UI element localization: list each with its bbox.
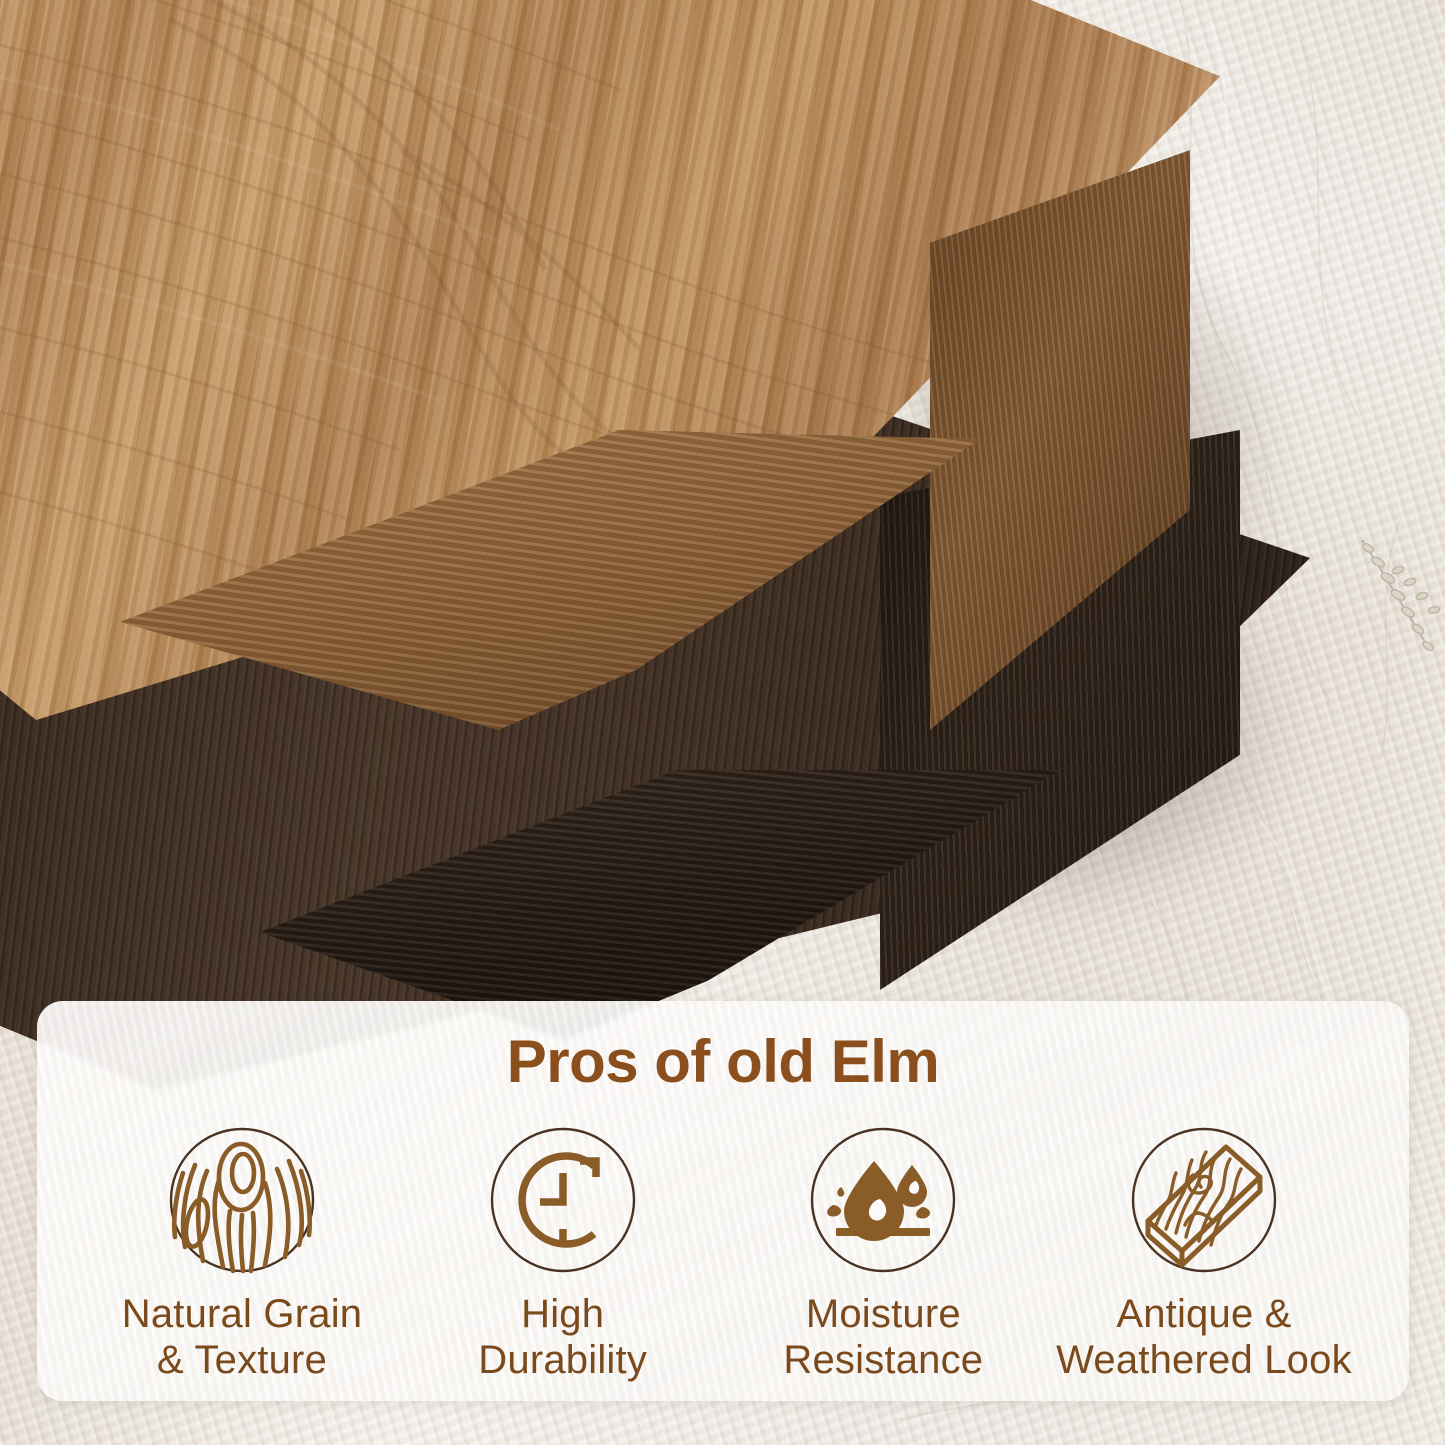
dried-plant-sprig-icon xyxy=(1352,530,1445,670)
wood-grain-circle-icon xyxy=(167,1125,317,1275)
feature-antique-weathered[interactable]: Antique & Weathered Look xyxy=(1045,1125,1363,1384)
page-title: Pros of old Elm xyxy=(37,1001,1409,1095)
feature-moisture-resistance[interactable]: Moisture Resistance xyxy=(724,1125,1042,1384)
feature-label: High Durability xyxy=(478,1291,647,1384)
clock-arrow-icon xyxy=(488,1125,638,1275)
pros-info-card: Pros of old Elm xyxy=(37,1001,1409,1401)
feature-label: Moisture Resistance xyxy=(783,1291,983,1384)
feature-high-durability[interactable]: High Durability xyxy=(404,1125,722,1384)
feature-label: Natural Grain & Texture xyxy=(122,1291,362,1384)
feature-natural-grain[interactable]: Natural Grain & Texture xyxy=(83,1125,401,1384)
feature-list: Natural Grain & Texture xyxy=(37,1095,1409,1384)
water-droplet-icon xyxy=(808,1125,958,1275)
wood-plank-icon xyxy=(1129,1125,1279,1275)
product-infographic: Pros of old Elm xyxy=(0,0,1445,1445)
feature-label: Antique & Weathered Look xyxy=(1056,1291,1352,1384)
